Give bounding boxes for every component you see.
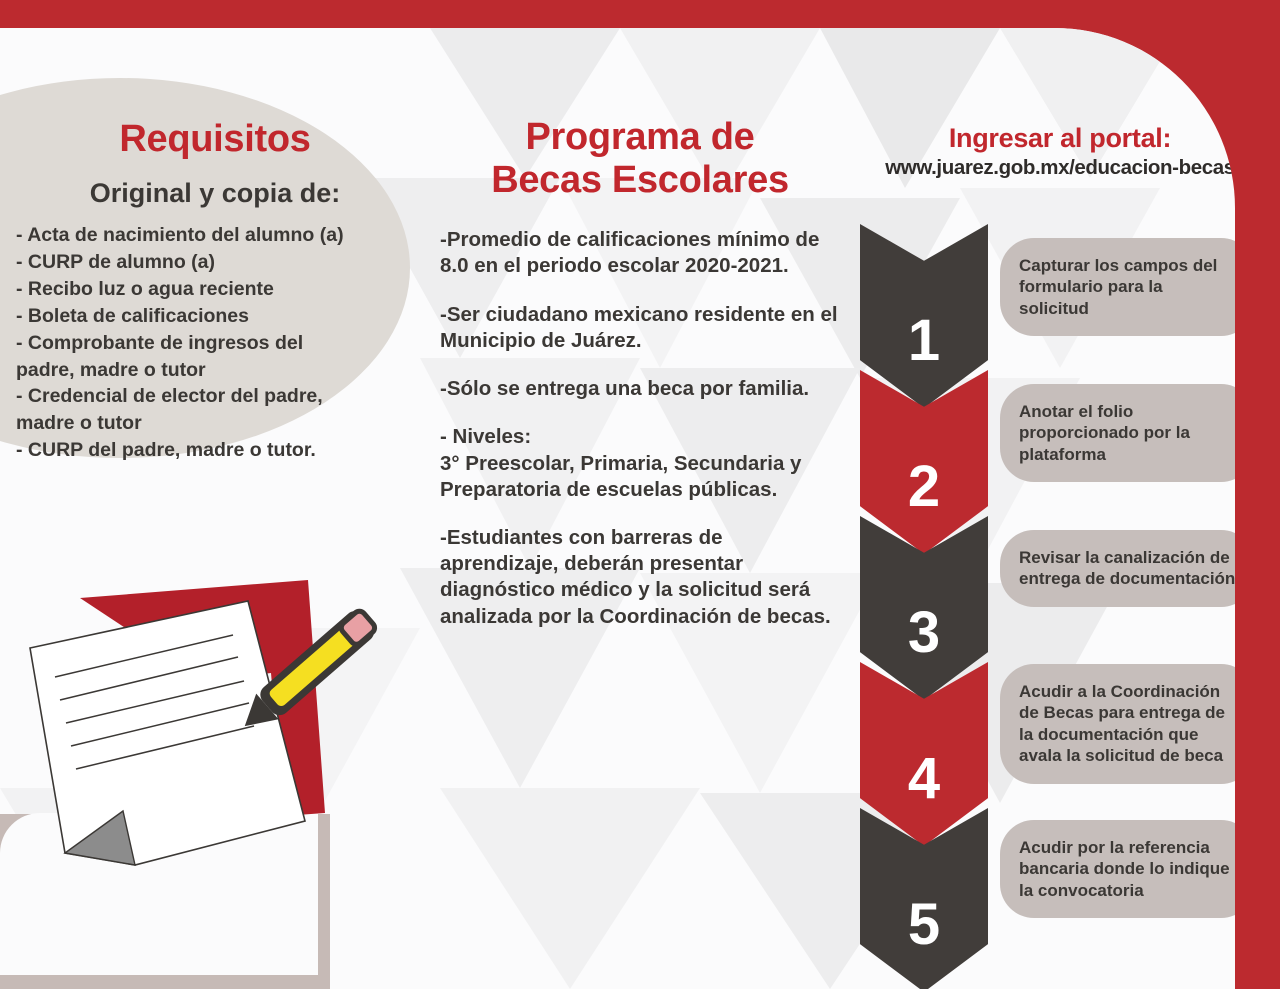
program-paragraph: -Ser ciudadano mexicano residente en el … — [440, 302, 840, 354]
infographic-poster: Requisitos Original y copia de: - Acta d… — [0, 0, 1280, 989]
list-item: - CURP del padre, madre o tutor. — [16, 438, 430, 464]
list-item: - Recibo luz o agua reciente — [16, 277, 430, 303]
step-chevron-1: 1 — [860, 224, 988, 408]
step-card-4[interactable]: Acudir a la Coordinación de Becas para e… — [1000, 664, 1235, 784]
list-item: padre, madre o tutor — [16, 358, 430, 384]
list-item: - Acta de nacimiento del alumno (a) — [16, 223, 430, 249]
steps-flow: 1 2 3 4 5 Capturar los campos del formul… — [860, 224, 1235, 974]
chevron-column: 1 2 3 4 5 — [860, 224, 988, 974]
poster-canvas: Requisitos Original y copia de: - Acta d… — [0, 28, 1235, 989]
program-paragraph: -Sólo se entrega una beca por familia. — [440, 376, 840, 402]
step-number: 1 — [908, 307, 940, 374]
list-item: - Credencial de elector del padre, — [16, 384, 430, 410]
program-paragraph: - Niveles: 3° Preescolar, Primaria, Secu… — [440, 424, 840, 503]
step-card-5[interactable]: Acudir por la referencia bancaria donde … — [1000, 820, 1235, 918]
step-card-1[interactable]: Capturar los campos del formulario para … — [1000, 238, 1235, 336]
step-number: 3 — [908, 599, 940, 666]
list-item: - CURP de alumno (a) — [16, 250, 430, 276]
document-and-pencil-icon — [25, 553, 425, 898]
list-item: - Comprobante de ingresos del — [16, 331, 430, 357]
program-column: Programa de Becas Escolares -Promedio de… — [440, 116, 840, 630]
program-title-line-1: Programa de — [525, 116, 754, 158]
step-number: 5 — [908, 891, 940, 958]
requirements-title: Requisitos — [0, 120, 430, 160]
step-number: 2 — [908, 453, 940, 520]
portal-title: Ingresar al portal: — [860, 124, 1235, 154]
step-card-3[interactable]: Revisar la canalización de entrega de do… — [1000, 530, 1235, 607]
requirements-list: - Acta de nacimiento del alumno (a) - CU… — [0, 223, 430, 464]
portal-column-header: Ingresar al portal: www.juarez.gob.mx/ed… — [860, 124, 1235, 180]
step-card-2[interactable]: Anotar el folio proporcionado por la pla… — [1000, 384, 1235, 482]
requirements-column: Requisitos Original y copia de: - Acta d… — [0, 120, 430, 465]
program-title: Programa de Becas Escolares — [440, 116, 840, 201]
requirements-subtitle: Original y copia de: — [0, 178, 430, 209]
program-paragraph: -Estudiantes con barreras de aprendizaje… — [440, 525, 840, 630]
list-item: - Boleta de calificaciones — [16, 304, 430, 330]
program-title-line-2: Becas Escolares — [491, 159, 789, 201]
portal-url[interactable]: www.juarez.gob.mx/educacion-becas — [860, 156, 1235, 180]
step-number: 4 — [908, 745, 940, 812]
list-item: madre o tutor — [16, 411, 430, 437]
program-paragraph: -Promedio de calificaciones mínimo de 8.… — [440, 227, 840, 279]
